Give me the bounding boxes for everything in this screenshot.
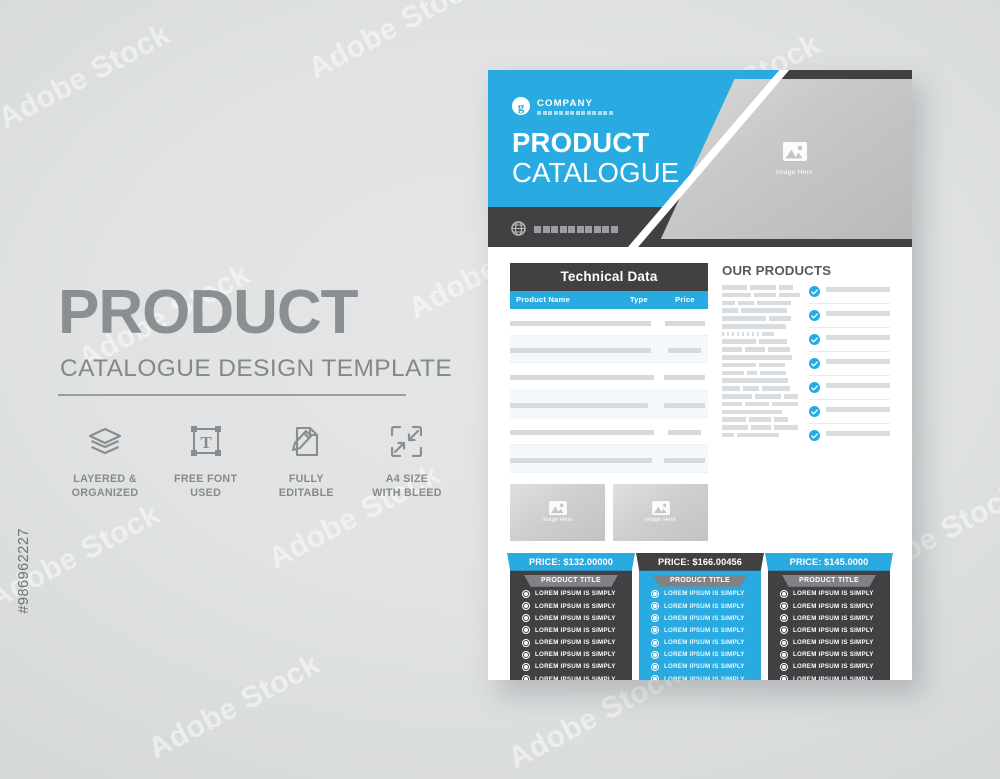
pricing-feature-label: LOREM IPSUM IS SIMPLY	[793, 615, 874, 622]
pricing-feature-item: LOREM IPSUM IS SIMPLY	[639, 649, 761, 661]
pricing-feature-item: LOREM IPSUM IS SIMPLY	[510, 624, 632, 636]
bullet-icon	[780, 663, 788, 671]
bullet-icon	[780, 639, 788, 647]
cell-product-name	[510, 445, 616, 472]
cell-product-name	[510, 309, 616, 336]
checklist-item-5	[809, 381, 890, 400]
placeholder-line	[722, 339, 800, 344]
pricing-feature-item: LOREM IPSUM IS SIMPLY	[639, 661, 761, 673]
header-website-placeholder	[534, 226, 618, 233]
our-products-heading: OUR PRODUCTS	[722, 263, 890, 278]
thumbnail-caption: Image Here	[645, 517, 676, 523]
column-header-product-name: Product Name	[510, 291, 616, 309]
pricing-feature-item: LOREM IPSUM IS SIMPLY	[639, 612, 761, 624]
feature-label: A4 SIZEWITH BLEED	[358, 473, 456, 501]
bullet-icon	[651, 602, 659, 610]
pricing-feature-label: LOREM IPSUM IS SIMPLY	[793, 676, 874, 680]
watermark: Adobe Stock	[303, 0, 486, 86]
cell-product-name	[510, 390, 616, 417]
promo-block: PRODUCT CATALOGUE DESIGN TEMPLATE	[58, 282, 458, 396]
feature-label: FREE FONTUSED	[157, 473, 255, 501]
cell-type	[616, 363, 662, 390]
placeholder-line	[722, 402, 800, 407]
price-banner: PRICE: $166.00456	[636, 553, 764, 571]
placeholder-line	[722, 355, 800, 360]
placeholder-line	[722, 324, 800, 329]
checklist-text-placeholder	[826, 309, 890, 316]
table-row	[510, 363, 708, 390]
pricing-feature-label: LOREM IPSUM IS SIMPLY	[535, 676, 616, 680]
cell-product-name	[510, 418, 616, 445]
watermark: Adobe Stock	[143, 648, 326, 767]
pricing-feature-label: LOREM IPSUM IS SIMPLY	[664, 651, 745, 658]
pricing-feature-item: LOREM IPSUM IS SIMPLY	[639, 673, 761, 680]
bullet-icon	[780, 590, 788, 598]
checklist-text-placeholder	[826, 285, 890, 292]
thumbnail-2[interactable]: Image Here	[613, 484, 708, 541]
pricing-cards: PRICE: $132.00000PRODUCT TITLELOREM IPSU…	[488, 541, 912, 680]
card-body: PRICE: $145.0000PRODUCT TITLELOREM IPSUM…	[768, 562, 890, 680]
text-type-icon: T	[157, 420, 255, 462]
check-icon	[809, 406, 820, 417]
price-banner: PRICE: $145.0000	[765, 553, 893, 571]
pricing-feature-label: LOREM IPSUM IS SIMPLY	[793, 651, 874, 658]
pricing-feature-label: LOREM IPSUM IS SIMPLY	[535, 651, 616, 658]
pricing-feature-label: LOREM IPSUM IS SIMPLY	[793, 603, 874, 610]
check-icon	[809, 430, 820, 441]
placeholder-line	[722, 363, 800, 368]
bullet-icon	[780, 626, 788, 634]
column-header-price: Price	[662, 291, 708, 309]
page-title: PRODUCT	[58, 282, 458, 344]
placeholder-line	[722, 417, 800, 422]
checklist-item-7	[809, 429, 890, 447]
stock-id: #986962227	[16, 528, 32, 614]
product-checklist	[809, 285, 890, 452]
feature-item-4: A4 SIZEWITH BLEED	[358, 420, 456, 501]
header-website-row	[511, 221, 618, 236]
feature-item-2: TFREE FONTUSED	[157, 420, 255, 501]
checklist-text-placeholder	[826, 381, 890, 388]
checklist-text-placeholder	[826, 405, 890, 412]
checklist-item-1	[809, 285, 890, 304]
card-body: PRICE: $166.00456PRODUCT TITLELOREM IPSU…	[639, 562, 761, 680]
bullet-icon	[651, 626, 659, 634]
bullet-icon	[522, 651, 530, 659]
pricing-feature-item: LOREM IPSUM IS SIMPLY	[510, 600, 632, 612]
pricing-feature-label: LOREM IPSUM IS SIMPLY	[793, 663, 874, 670]
bullet-icon	[651, 590, 659, 598]
company-logo[interactable]: g COMPANY	[512, 97, 613, 115]
bullet-icon	[522, 614, 530, 622]
bullet-icon	[522, 602, 530, 610]
pricing-feature-item: LOREM IPSUM IS SIMPLY	[768, 588, 890, 600]
pricing-feature-label: LOREM IPSUM IS SIMPLY	[664, 627, 745, 634]
cell-product-name	[510, 363, 616, 390]
check-icon	[809, 358, 820, 369]
bullet-icon	[651, 663, 659, 671]
feature-item-3: FULLYEDITABLE	[257, 420, 355, 501]
logo-mark-icon: g	[512, 97, 530, 115]
pencil-document-icon	[257, 420, 355, 462]
flyer-preview[interactable]: Image Here g COMPANY PRODUCT	[488, 70, 912, 680]
cell-price	[662, 418, 708, 445]
pricing-feature-item: LOREM IPSUM IS SIMPLY	[768, 600, 890, 612]
thumbnail-1[interactable]: Image Here	[510, 484, 605, 541]
cell-product-name	[510, 335, 616, 362]
technical-data-table: Product Name Type Price	[510, 291, 708, 473]
flyer-title: PRODUCT CATALOGUE	[512, 128, 679, 188]
pricing-feature-item: LOREM IPSUM IS SIMPLY	[639, 600, 761, 612]
page-subtitle: CATALOGUE DESIGN TEMPLATE	[60, 355, 458, 383]
bullet-icon	[651, 614, 659, 622]
pricing-feature-label: LOREM IPSUM IS SIMPLY	[664, 676, 745, 680]
flyer-header: Image Here g COMPANY PRODUCT	[488, 70, 912, 247]
card-body: PRICE: $132.00000PRODUCT TITLELOREM IPSU…	[510, 562, 632, 680]
cell-price	[662, 390, 708, 417]
pricing-feature-item: LOREM IPSUM IS SIMPLY	[639, 624, 761, 636]
placeholder-line	[722, 301, 800, 306]
image-placeholder-icon	[783, 142, 807, 161]
feature-label: LAYERED &ORGANIZED	[56, 473, 154, 501]
pricing-card-3[interactable]: PRICE: $145.0000PRODUCT TITLELOREM IPSUM…	[768, 553, 890, 680]
technical-data-heading: Technical Data	[510, 263, 708, 291]
pricing-feature-label: LOREM IPSUM IS SIMPLY	[535, 639, 616, 646]
product-title-banner: PRODUCT TITLE	[782, 575, 876, 587]
pricing-feature-item: LOREM IPSUM IS SIMPLY	[768, 624, 890, 636]
canvas-background: Adobe Stock Adobe Stock Adobe Stock Adob…	[0, 0, 1000, 779]
placeholder-line	[722, 425, 800, 430]
pricing-feature-item: LOREM IPSUM IS SIMPLY	[639, 588, 761, 600]
bullet-icon	[522, 626, 530, 634]
column-header-type: Type	[616, 291, 662, 309]
pricing-feature-label: LOREM IPSUM IS SIMPLY	[664, 663, 745, 670]
watermark: Adobe Stock	[0, 18, 176, 137]
placeholder-line	[722, 316, 800, 321]
left-column: Technical Data Product Name Type Price I…	[510, 263, 708, 541]
pricing-feature-label: LOREM IPSUM IS SIMPLY	[793, 627, 874, 634]
globe-icon	[511, 221, 526, 236]
pricing-feature-item: LOREM IPSUM IS SIMPLY	[639, 637, 761, 649]
pricing-feature-label: LOREM IPSUM IS SIMPLY	[535, 627, 616, 634]
company-name: COMPANY	[537, 98, 613, 109]
right-column: OUR PRODUCTS	[722, 263, 890, 541]
flyer-body: Technical Data Product Name Type Price I…	[488, 247, 912, 541]
pricing-feature-item: LOREM IPSUM IS SIMPLY	[510, 661, 632, 673]
bullet-icon	[780, 614, 788, 622]
product-description-placeholder	[722, 285, 800, 452]
pricing-feature-item: LOREM IPSUM IS SIMPLY	[510, 637, 632, 649]
thumbnail-row: Image HereImage Here	[510, 484, 708, 541]
checklist-text-placeholder	[826, 429, 890, 436]
thumbnail-caption: Image Here	[542, 517, 573, 523]
placeholder-line	[722, 410, 800, 415]
pricing-feature-label: LOREM IPSUM IS SIMPLY	[664, 590, 745, 597]
cell-price	[662, 309, 708, 336]
placeholder-line	[722, 386, 800, 391]
image-placeholder-caption: Image Here	[776, 169, 813, 176]
pricing-feature-item: LOREM IPSUM IS SIMPLY	[510, 612, 632, 624]
bullet-icon	[651, 651, 659, 659]
placeholder-line	[722, 394, 800, 399]
pricing-feature-item: LOREM IPSUM IS SIMPLY	[768, 637, 890, 649]
company-tagline-placeholder	[537, 111, 613, 115]
bullet-icon	[780, 602, 788, 610]
resize-arrows-icon	[358, 420, 456, 462]
table-row	[510, 335, 708, 362]
checklist-text-placeholder	[826, 333, 890, 340]
table-row	[510, 445, 708, 472]
pricing-feature-item: LOREM IPSUM IS SIMPLY	[768, 661, 890, 673]
check-icon	[809, 382, 820, 393]
checklist-item-6	[809, 405, 890, 424]
pricing-feature-item: LOREM IPSUM IS SIMPLY	[768, 673, 890, 680]
feature-label: FULLYEDITABLE	[257, 473, 355, 501]
pricing-feature-label: LOREM IPSUM IS SIMPLY	[664, 615, 745, 622]
placeholder-line	[722, 378, 800, 383]
check-icon	[809, 286, 820, 297]
pricing-feature-label: LOREM IPSUM IS SIMPLY	[793, 639, 874, 646]
placeholder-line	[722, 371, 800, 376]
placeholder-line	[722, 293, 800, 298]
pricing-feature-item: LOREM IPSUM IS SIMPLY	[510, 649, 632, 661]
bullet-icon	[522, 663, 530, 671]
pricing-feature-label: LOREM IPSUM IS SIMPLY	[664, 639, 745, 646]
checklist-item-2	[809, 309, 890, 328]
layers-icon	[56, 420, 154, 462]
pricing-feature-label: LOREM IPSUM IS SIMPLY	[535, 603, 616, 610]
check-icon	[809, 310, 820, 321]
placeholder-line	[722, 332, 800, 337]
placeholder-line	[722, 347, 800, 352]
placeholder-line	[722, 433, 800, 438]
svg-text:T: T	[200, 433, 212, 452]
table-row	[510, 390, 708, 417]
checklist-text-placeholder	[826, 357, 890, 364]
product-title-banner: PRODUCT TITLE	[653, 575, 747, 587]
image-placeholder-icon	[652, 501, 670, 515]
bullet-icon	[522, 675, 530, 680]
pricing-feature-item: LOREM IPSUM IS SIMPLY	[768, 612, 890, 624]
flyer-title-line1: PRODUCT	[512, 128, 679, 158]
price-banner: PRICE: $132.00000	[507, 553, 635, 571]
table-header-row: Product Name Type Price	[510, 291, 708, 309]
pricing-feature-item: LOREM IPSUM IS SIMPLY	[510, 673, 632, 680]
bullet-icon	[522, 639, 530, 647]
table-row	[510, 418, 708, 445]
pricing-feature-item: LOREM IPSUM IS SIMPLY	[768, 649, 890, 661]
pricing-card-1[interactable]: PRICE: $132.00000PRODUCT TITLELOREM IPSU…	[510, 553, 632, 680]
cell-price	[662, 363, 708, 390]
pricing-feature-label: LOREM IPSUM IS SIMPLY	[535, 663, 616, 670]
check-icon	[809, 334, 820, 345]
bullet-icon	[780, 651, 788, 659]
feature-item-1: LAYERED &ORGANIZED	[56, 420, 154, 501]
checklist-item-3	[809, 333, 890, 352]
placeholder-line	[722, 285, 800, 290]
product-title-banner: PRODUCT TITLE	[524, 575, 618, 587]
cell-price	[662, 445, 708, 472]
bullet-icon	[522, 590, 530, 598]
pricing-card-2[interactable]: PRICE: $166.00456PRODUCT TITLELOREM IPSU…	[639, 553, 761, 680]
bullet-icon	[651, 675, 659, 680]
bullet-icon	[651, 639, 659, 647]
image-placeholder-icon	[549, 501, 567, 515]
table-row	[510, 309, 708, 336]
bullet-icon	[780, 675, 788, 680]
pricing-feature-label: LOREM IPSUM IS SIMPLY	[535, 590, 616, 597]
feature-list: LAYERED &ORGANIZEDTFREE FONTUSEDFULLYEDI…	[56, 420, 456, 501]
flyer-title-line2: CATALOGUE	[512, 158, 679, 189]
pricing-feature-label: LOREM IPSUM IS SIMPLY	[664, 603, 745, 610]
pricing-feature-label: LOREM IPSUM IS SIMPLY	[535, 615, 616, 622]
pricing-feature-item: LOREM IPSUM IS SIMPLY	[510, 588, 632, 600]
checklist-item-4	[809, 357, 890, 376]
cell-price	[662, 335, 708, 362]
placeholder-line	[722, 308, 800, 313]
title-divider	[58, 394, 406, 396]
pricing-feature-label: LOREM IPSUM IS SIMPLY	[793, 590, 874, 597]
